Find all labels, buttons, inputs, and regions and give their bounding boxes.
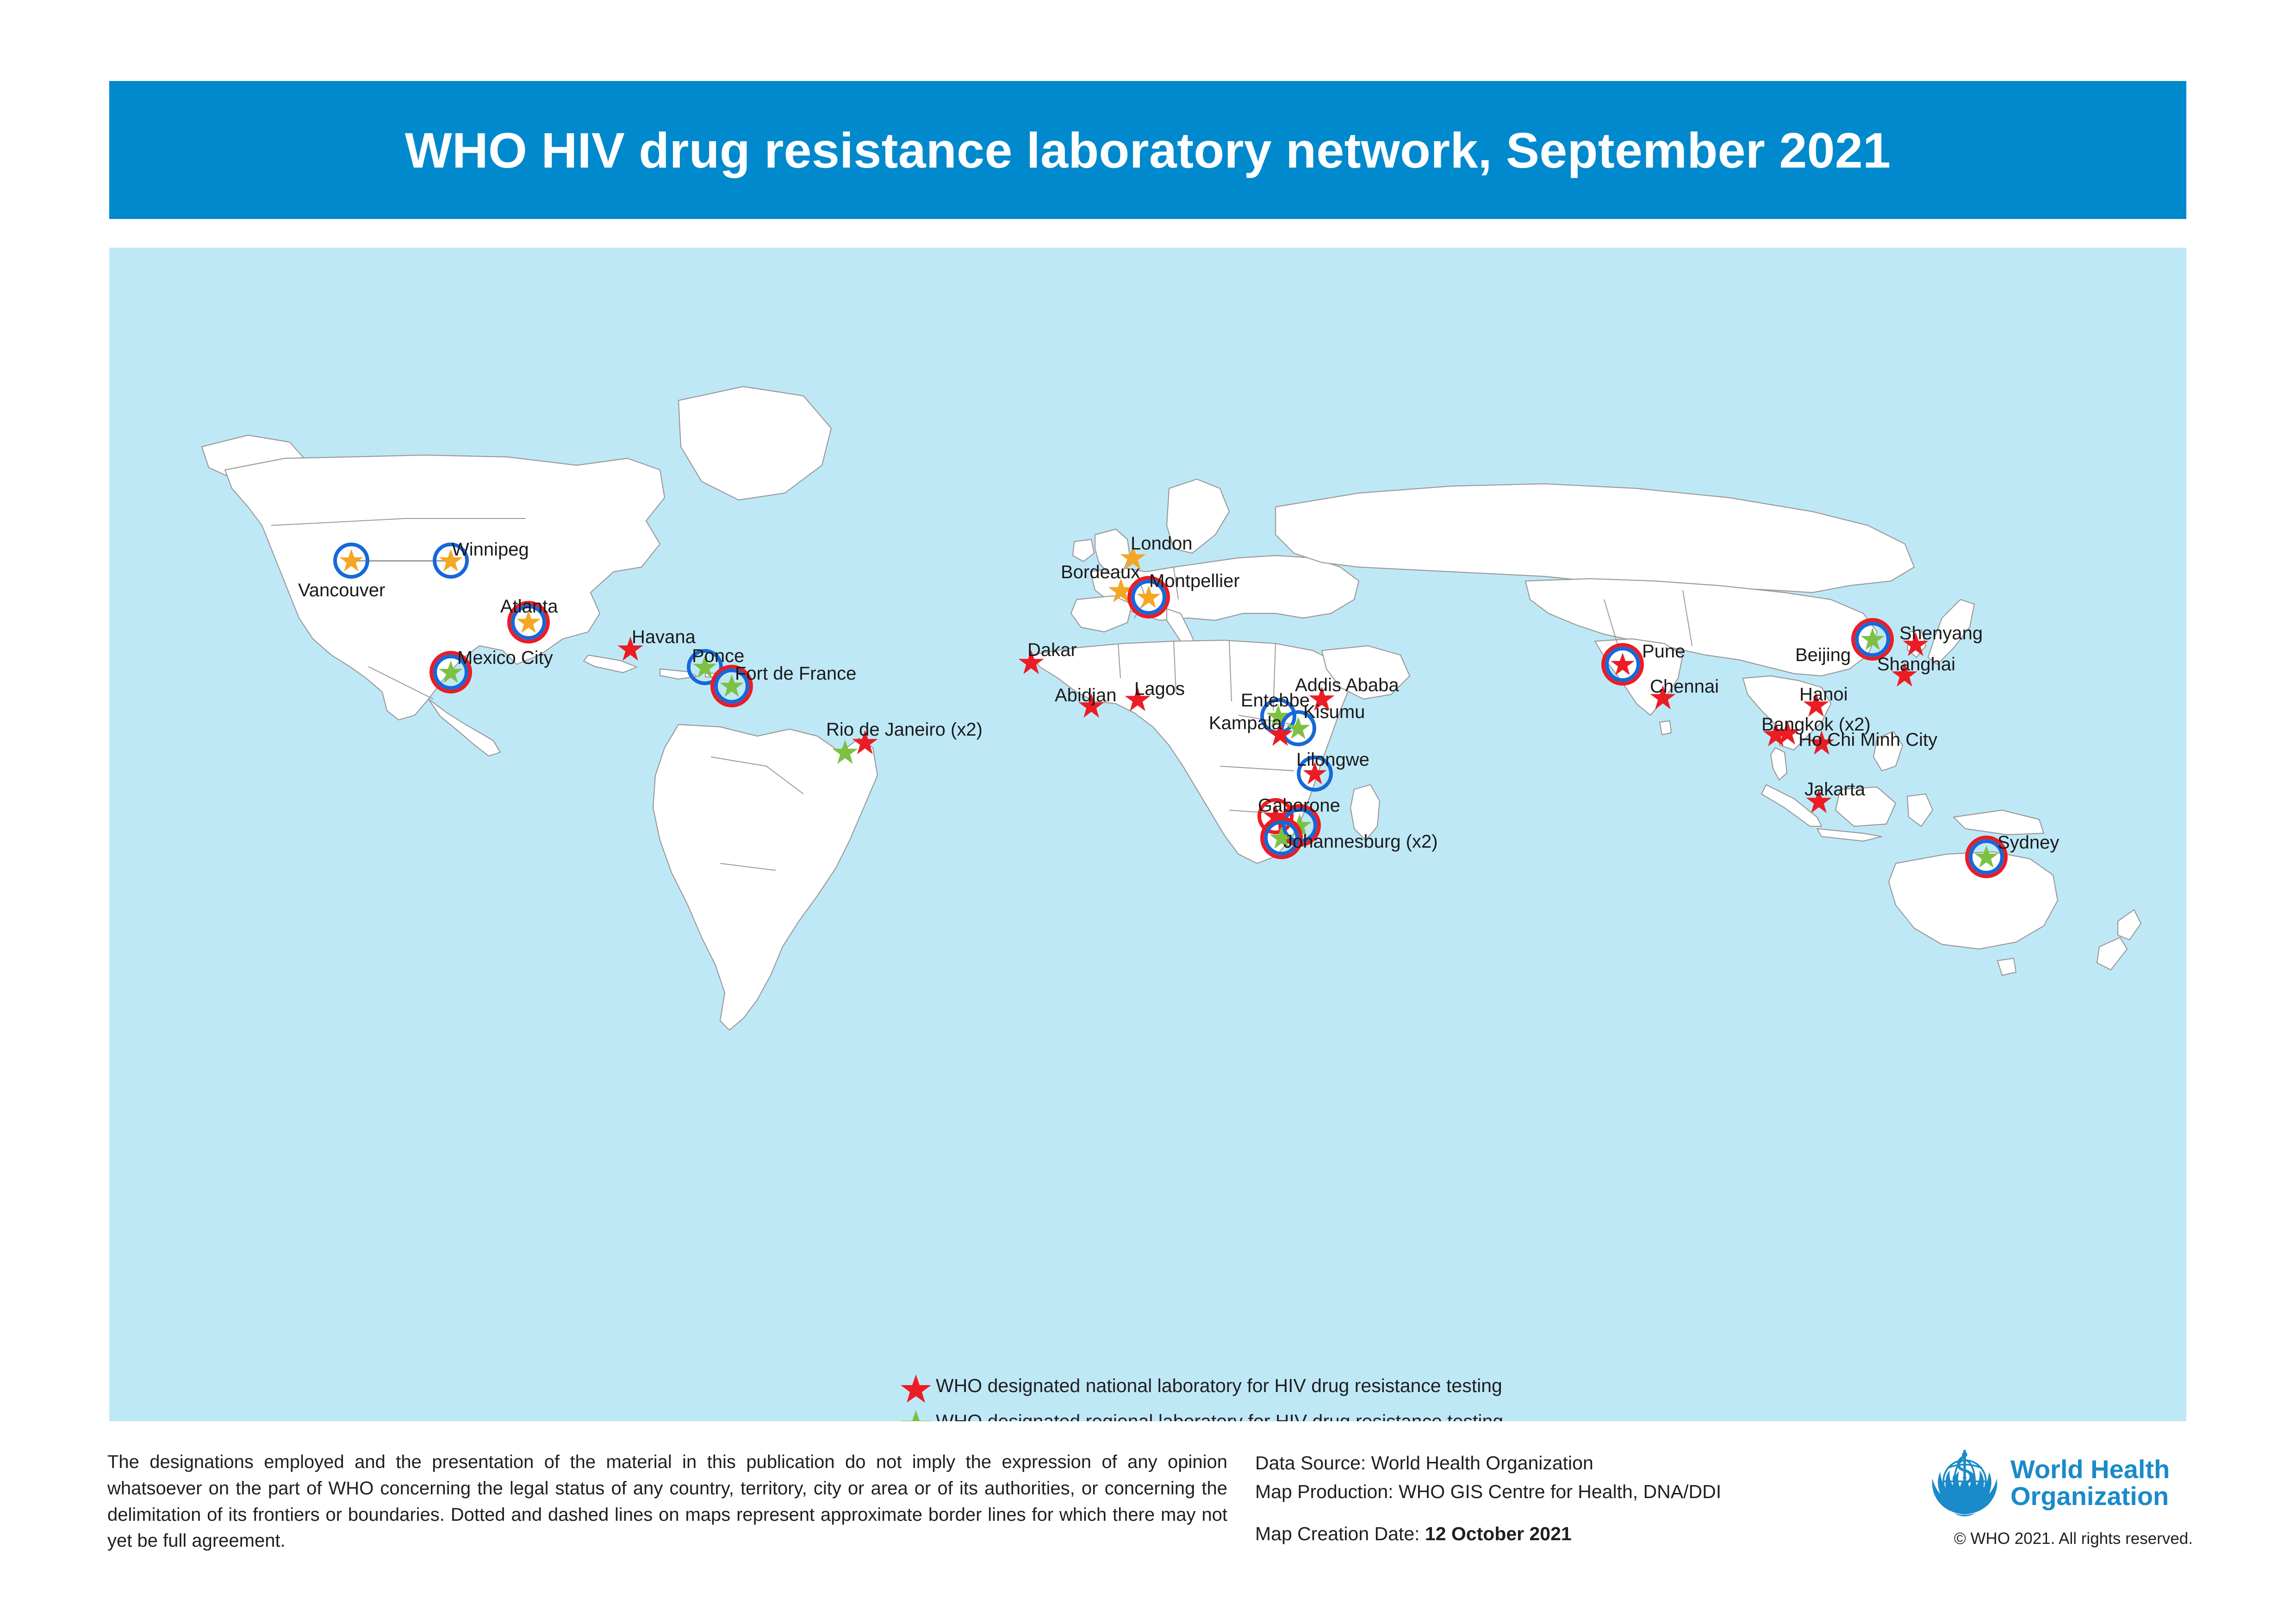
legend-item: WHO designated regional laboratory for H… xyxy=(896,1404,2007,1421)
map-legend: WHO designated national laboratory for H… xyxy=(896,1368,2007,1421)
source-block: Data Source: World Health Organization M… xyxy=(1255,1449,1866,1549)
footer: The designations employed and the presen… xyxy=(0,1440,2296,1624)
title-banner: WHO HIV drug resistance laboratory netwo… xyxy=(109,81,2186,219)
city-label-hanoi: Hanoi xyxy=(1799,685,1848,704)
city-label-bordeaux: Bordeaux xyxy=(1061,563,1140,581)
map-creation-date: 12 October 2021 xyxy=(1425,1523,1572,1544)
city-label-fort-de-france: Fort de France xyxy=(735,664,856,683)
city-label-gaborone: Gaborone xyxy=(1258,796,1340,815)
city-label-lilongwe: Lilongwe xyxy=(1296,750,1369,769)
city-label-vancouver: Vancouver xyxy=(298,581,385,600)
city-label-mexico-city: Mexico City xyxy=(457,649,553,667)
world-map-landmasses xyxy=(109,248,2186,1421)
city-label-london: London xyxy=(1131,534,1192,553)
city-label-shanghai: Shanghai xyxy=(1877,655,1955,674)
legend-item: WHO designated national laboratory for H… xyxy=(896,1368,2007,1404)
city-label-atlanta: Atlanta xyxy=(500,597,558,616)
city-label-dakar: Dakar xyxy=(1027,641,1077,659)
city-label-beijing: Beijing xyxy=(1795,646,1851,664)
city-label-chennai: Chennai xyxy=(1650,677,1719,696)
city-label-addis-ababa: Addis Ababa xyxy=(1295,676,1399,694)
city-label-ho-chi-minh-city: Ho Chi Minh City xyxy=(1798,731,1937,749)
map-creation-line: Map Creation Date: 12 October 2021 xyxy=(1255,1520,1866,1549)
city-label-winnipeg: Winnipeg xyxy=(452,540,529,559)
data-source-line: Data Source: World Health Organization xyxy=(1255,1449,1866,1478)
who-wordmark-line2: Organization xyxy=(2010,1483,2170,1509)
city-label-pune: Pune xyxy=(1642,642,1685,661)
page-title: WHO HIV drug resistance laboratory netwo… xyxy=(405,121,1891,179)
city-label-shenyang: Shenyang xyxy=(1899,624,1983,643)
regional-star-icon xyxy=(831,738,859,766)
red-star-icon xyxy=(896,1368,936,1404)
map-production-line: Map Production: WHO GIS Centre for Healt… xyxy=(1255,1478,1866,1506)
world-map-panel: VancouverWinnipegAtlantaHavanaMexico Cit… xyxy=(109,248,2186,1421)
city-label-johannesburg-x2: Johannesburg (x2) xyxy=(1283,832,1438,851)
city-label-jakarta: Jakarta xyxy=(1804,780,1865,799)
city-label-montpellier: Montpellier xyxy=(1149,572,1240,590)
who-logo-block: World Health Organization © WHO 2021. Al… xyxy=(1925,1442,2240,1548)
disclaimer-text: The designations employed and the presen… xyxy=(107,1449,1227,1554)
city-label-entebbe: Entebbe xyxy=(1241,691,1310,710)
regional-star-icon xyxy=(1860,626,1885,652)
regional-star-icon xyxy=(1973,844,1999,870)
who-emblem-icon xyxy=(1925,1442,2004,1523)
who-wordmark: World Health Organization xyxy=(2010,1456,2170,1509)
city-label-sydney: Sydney xyxy=(1997,833,2059,852)
legend-item-label: WHO designated regional laboratory for H… xyxy=(936,1411,1503,1421)
city-label-kisumu: Kisumu xyxy=(1303,703,1365,721)
city-label-kampala: Kampala xyxy=(1209,714,1282,732)
city-label-abidjan: Abidjan xyxy=(1055,686,1116,705)
city-label-ponce: Ponce xyxy=(692,647,744,665)
legend-item-label: WHO designated national laboratory for H… xyxy=(936,1375,1502,1397)
green-star-icon xyxy=(896,1404,936,1421)
map-creation-label: Map Creation Date: xyxy=(1255,1523,1425,1544)
city-label-rio-de-janeiro-x2: Rio de Janeiro (x2) xyxy=(826,720,983,739)
specialized-star-icon xyxy=(338,548,364,574)
who-wordmark-line1: World Health xyxy=(2010,1456,2170,1482)
copyright-text: © WHO 2021. All rights reserved. xyxy=(1925,1530,2221,1548)
city-label-lagos: Lagos xyxy=(1134,680,1185,698)
national-star-icon xyxy=(1610,651,1636,677)
city-label-havana: Havana xyxy=(632,628,696,646)
